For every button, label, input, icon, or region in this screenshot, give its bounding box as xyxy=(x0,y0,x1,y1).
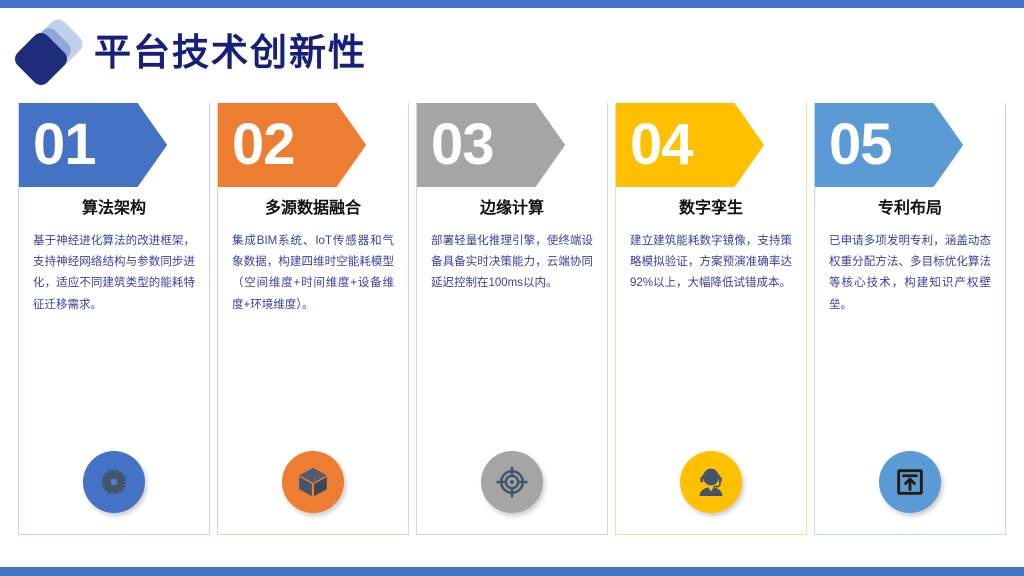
feature-card-row: 01 算法架构 基于神经进化算法的改进框架，支持神经网络结构与参数同步进化，适应… xyxy=(18,103,1006,535)
card-icon-area xyxy=(417,430,607,534)
top-accent-bar xyxy=(0,0,1024,8)
card-heading: 边缘计算 xyxy=(431,199,593,220)
diamond-logo xyxy=(18,21,80,83)
cpu-chip-icon xyxy=(97,465,131,499)
card-description: 建立建筑能耗数字镜像，支持策略模拟验证，方案预演准确率达92%以上，大幅降低试错… xyxy=(630,231,792,295)
card-description: 基于神经进化算法的改进框架，支持神经网络结构与参数同步进化，适应不同建筑类型的能… xyxy=(33,231,195,316)
card-number: 02 xyxy=(232,116,295,174)
card-heading: 多源数据融合 xyxy=(232,199,394,220)
card-description: 集成BIM系统、IoT传感器和气象数据，构建四维时空能耗模型（空间维度+时间维度… xyxy=(232,231,394,316)
card-number-banner: 05 xyxy=(815,103,1005,187)
icon-medallion xyxy=(680,451,742,513)
card-body: 多源数据融合 集成BIM系统、IoT传感器和气象数据，构建四维时空能耗模型（空间… xyxy=(218,187,408,430)
card-icon-area xyxy=(815,430,1005,534)
page-title: 平台技术创新性 xyxy=(94,34,367,71)
card-body: 算法架构 基于神经进化算法的改进框架，支持神经网络结构与参数同步进化，适应不同建… xyxy=(19,187,209,430)
icon-medallion xyxy=(83,451,145,513)
card-number-banner: 01 xyxy=(19,103,209,187)
card-body: 数字孪生 建立建筑能耗数字镜像，支持策略模拟验证，方案预演准确率达92%以上，大… xyxy=(616,187,806,430)
card-number: 04 xyxy=(630,116,693,174)
card-number: 01 xyxy=(33,116,96,174)
bottom-accent-bar xyxy=(0,567,1024,576)
feature-card[interactable]: 05 专利布局 已申请多项发明专利，涵盖动态权重分配方法、多目标优化算法等核心技… xyxy=(814,103,1006,535)
icon-medallion xyxy=(282,451,344,513)
card-icon-area xyxy=(19,430,209,534)
feature-card[interactable]: 02 多源数据融合 集成BIM系统、IoT传感器和气象数据，构建四维时空能耗模型… xyxy=(217,103,409,535)
card-icon-area xyxy=(616,430,806,534)
slide-header: 平台技术创新性 xyxy=(18,16,718,88)
upload-box-icon xyxy=(893,465,927,499)
card-number-banner: 03 xyxy=(417,103,607,187)
card-heading: 专利布局 xyxy=(829,199,991,220)
cube-box-icon xyxy=(295,464,331,500)
card-number-banner: 02 xyxy=(218,103,408,187)
headset-agent-icon xyxy=(693,464,729,500)
feature-card[interactable]: 01 算法架构 基于神经进化算法的改进框架，支持神经网络结构与参数同步进化，适应… xyxy=(18,103,210,535)
card-icon-area xyxy=(218,430,408,534)
icon-medallion xyxy=(879,451,941,513)
icon-medallion xyxy=(481,451,543,513)
card-description: 已申请多项发明专利，涵盖动态权重分配方法、多目标优化算法等核心技术，构建知识产权… xyxy=(829,231,991,316)
card-number: 03 xyxy=(431,116,494,174)
card-number-banner: 04 xyxy=(616,103,806,187)
crosshair-target-icon xyxy=(494,464,530,500)
feature-card[interactable]: 04 数字孪生 建立建筑能耗数字镜像，支持策略模拟验证，方案预演准确率达92%以… xyxy=(615,103,807,535)
card-body: 边缘计算 部署轻量化推理引擎，使终端设备具备实时决策能力，云端协同延迟控制在10… xyxy=(417,187,607,430)
card-heading: 数字孪生 xyxy=(630,199,792,220)
card-description: 部署轻量化推理引擎，使终端设备具备实时决策能力，云端协同延迟控制在100ms以内… xyxy=(431,231,593,295)
card-body: 专利布局 已申请多项发明专利，涵盖动态权重分配方法、多目标优化算法等核心技术，构… xyxy=(815,187,1005,430)
card-number: 05 xyxy=(829,116,892,174)
feature-card[interactable]: 03 边缘计算 部署轻量化推理引擎，使终端设备具备实时决策能力，云端协同延迟控制… xyxy=(416,103,608,535)
card-heading: 算法架构 xyxy=(33,199,195,220)
